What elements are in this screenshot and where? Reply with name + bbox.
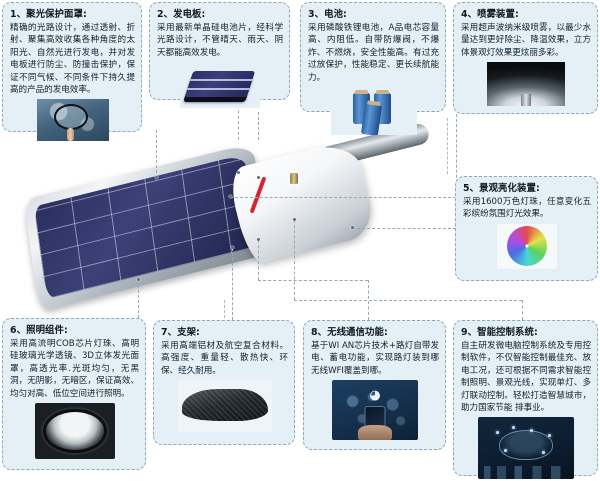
monocrystalline-solar-cell-photo	[180, 62, 260, 108]
cob-lens-module-photo	[35, 403, 115, 459]
pressure-valve	[290, 173, 298, 184]
divider-top	[447, 118, 448, 174]
feature-4-title: 4、喷雾装置:	[461, 8, 591, 21]
feature-4-body: 采用超声波纳米级喷雾，以最少水量达到更好除尘、降温效果，立方体景观灯效果更炫丽多…	[461, 22, 591, 59]
feature-9-body: 自主研发微电脑控制系统及专用控制软件，不仅智能控制最佳充、放电工况，还可根据不同…	[461, 340, 591, 414]
leader-line-8	[258, 240, 259, 280]
leader-line-5	[352, 228, 456, 229]
leader-line-1	[156, 130, 157, 178]
leader-line-4	[230, 197, 456, 198]
callout-dot-9	[293, 218, 296, 221]
callout-dot-6	[137, 278, 140, 281]
feature-panel-5: 5、景观亮化装置: 采用1600万色灯珠，任意变化五彩缤纷氛围灯光效果。	[455, 176, 598, 281]
feature-panel-1: 1、聚光保护面罩: 精确的光路设计，通过透射、折射、聚集高效收集各种角度的太阳光…	[2, 2, 142, 132]
callout-dot-8	[257, 238, 260, 241]
feature-8-title: 8、无线通信功能:	[311, 326, 439, 339]
feature-5-body: 采用1600万色灯珠，任意变化五彩缤纷氛围灯光效果。	[463, 196, 591, 221]
busbar-line	[187, 88, 249, 90]
feature-6-title: 6、照明组件:	[10, 324, 139, 337]
optical-lens-icon	[46, 412, 104, 450]
color-wheel-icon	[507, 226, 547, 266]
feature-panel-9: 9、智能控制系统: 自主研发微电脑控制系统及专用控制软件，不仅智能控制最佳充、放…	[453, 320, 598, 476]
feature-6-body: 采用高流明COB芯片灯珠、高明硅玻璃光学透镜、3D立体发光面罩，高透光率.光斑均…	[10, 338, 139, 400]
feature-panel-2: 2、发电板: 采用最新单晶硅电池片，经科学光路设计，不管晴天、雨天、阴天都能高效…	[149, 2, 290, 100]
bracket-shell	[182, 389, 268, 421]
hand-holding-phone	[358, 425, 392, 440]
city-skyline	[478, 466, 574, 479]
solar-cell-grid	[34, 154, 258, 299]
brain-network-icon	[499, 430, 553, 460]
feature-3-title: 3、电池:	[308, 8, 439, 21]
battery-cell	[360, 103, 381, 135]
magnifier-handle-icon	[67, 128, 74, 141]
ultrasonic-mist-nozzle-photo	[487, 62, 565, 106]
leader-line-8b	[258, 280, 368, 281]
solar-cell-chip	[185, 71, 255, 97]
feature-3-body: 采用磷酸铁锂电池，A品电芯容量高、内阻低。自带防爆阀，不爆炸、不燃烧，安全性能高…	[308, 22, 439, 84]
feature-1-title: 1、聚光保护面罩:	[10, 8, 135, 21]
network-node	[530, 429, 533, 432]
feature-1-body: 精确的光路设计，通过透射、折射、聚集高效收集各种角度的太阳光、自然光进行发电，并…	[10, 22, 135, 96]
feature-panel-3: 3、电池: 采用磷酸铁锂电池，A品电芯容量高、内阻低。自带防爆阀，不爆炸、不燃烧…	[300, 2, 446, 112]
leader-line-9c	[522, 300, 523, 320]
magnifier-lens-icon	[54, 104, 88, 130]
feature-2-title: 2、发电板:	[157, 8, 283, 21]
carbon-fiber-bracket-photo	[178, 380, 272, 432]
wifi-icon: ◕	[369, 389, 380, 402]
network-node	[548, 434, 551, 437]
callout-dot-7	[231, 246, 234, 249]
feature-2-body: 采用最新单晶硅电池片，经科学光路设计，不管晴天、雨天、阴天都能高效发电。	[157, 22, 283, 59]
feature-panel-6: 6、照明组件: 采用高流明COB芯片灯珠、高明硅玻璃光学透镜、3D立体发光面罩，…	[2, 318, 146, 470]
feature-9-title: 9、智能控制系统:	[461, 326, 591, 339]
busbar-line	[190, 79, 252, 81]
feature-panel-4: 4、喷雾装置: 采用超声波纳米级喷雾，以最少水量达到更好除尘、降温效果，立方体景…	[453, 2, 598, 114]
leader-line-7	[232, 248, 233, 320]
leader-line-9b	[294, 300, 522, 301]
callout-dot-1	[155, 176, 158, 179]
feature-7-body: 采用高端铝材及航空复合材料。高强度、重量轻、散热快、环保、经久耐用。	[161, 340, 288, 377]
leader-line-6	[138, 280, 139, 318]
wifi-world-map-phone-photo: ◕	[332, 380, 418, 440]
callout-dot-5	[351, 226, 354, 229]
magnifier-over-sky-photo	[37, 99, 109, 141]
callout-dot-2	[237, 171, 240, 174]
feature-panel-7: 7、支架: 采用高端铝材及航空复合材料。高强度、重量轻、散热快、环保、经久耐用。	[153, 320, 295, 445]
leader-line-3	[258, 112, 259, 140]
feature-panel-8: 8、无线通信功能: 基于WI AN芯片技术+路灯自带发电、蓄电功能，实现路灯装到…	[303, 320, 446, 450]
leader-line-9	[294, 220, 295, 300]
feature-8-body: 基于WI AN芯片技术+路灯自带发电、蓄电功能，实现路灯装到哪无线WFI覆盖到哪…	[311, 340, 439, 377]
product-feature-infographic: 1、聚光保护面罩: 精确的光路设计，通过透射、折射、聚集高效收集各种角度的太阳光…	[0, 0, 600, 481]
mist-nozzle-icon	[521, 94, 531, 106]
network-node	[512, 426, 515, 429]
callout-dot-3	[257, 176, 260, 179]
lithium-battery-cells-photo	[331, 87, 417, 135]
network-node	[496, 431, 499, 434]
network-node	[504, 449, 507, 452]
callout-dot-4	[229, 195, 232, 198]
feature-7-title: 7、支架:	[161, 326, 288, 339]
divider-bottom	[224, 300, 225, 318]
smart-city-brain-photo	[478, 417, 574, 479]
network-node	[542, 451, 545, 454]
feature-5-title: 5、景观亮化装置:	[463, 182, 591, 195]
rgb-color-wheel-photo	[497, 224, 557, 269]
